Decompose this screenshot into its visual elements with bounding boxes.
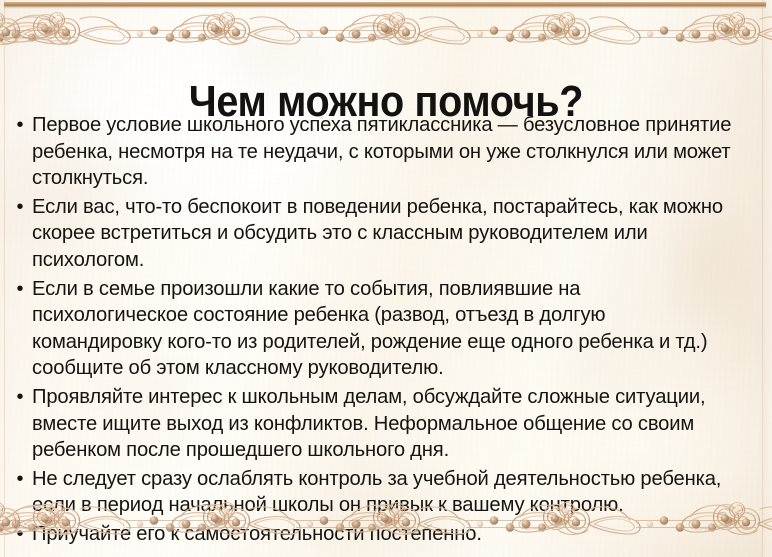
list-item: • Приучайте его к самостоятельности пост… [8, 521, 756, 548]
bullet-text: Если в семье произошли какие то события,… [32, 276, 738, 382]
bullet-text: Не следует сразу ослаблять контроль за у… [32, 466, 738, 519]
bullet-text: Первое условие школьного успеха пятиклас… [32, 112, 742, 192]
left-edge-fold-line [4, 0, 5, 557]
bullet-text: Приучайте его к самостоятельности постеп… [32, 521, 750, 548]
bullet-text: Если вас, что-то беспокоит в поведении р… [32, 194, 750, 274]
right-edge-shading [763, 0, 772, 557]
list-item: • Первое условие школьного успеха пятикл… [8, 112, 756, 192]
list-item: • Если в семье произошли какие то событи… [8, 276, 756, 382]
presentation-slide: Чем можно помочь? • Первое условие школь… [0, 0, 772, 557]
bullet-marker-icon: • [8, 466, 32, 493]
list-item: • Не следует сразу ослаблять контроль за… [8, 466, 756, 519]
bullet-marker-icon: • [8, 521, 32, 548]
bullet-list: • Первое условие школьного успеха пятикл… [8, 112, 756, 550]
top-horizontal-rule-shadow [4, 7, 766, 9]
bullet-marker-icon: • [8, 276, 32, 303]
bullet-marker-icon: • [8, 384, 32, 411]
bullet-marker-icon: • [8, 194, 32, 221]
bullet-marker-icon: • [8, 112, 32, 139]
list-item: • Проявляйте интерес к школьным делам, о… [8, 384, 756, 464]
bullet-text: Проявляйте интерес к школьным делам, обс… [32, 384, 746, 464]
list-item: • Если вас, что-то беспокоит в поведении… [8, 194, 756, 274]
